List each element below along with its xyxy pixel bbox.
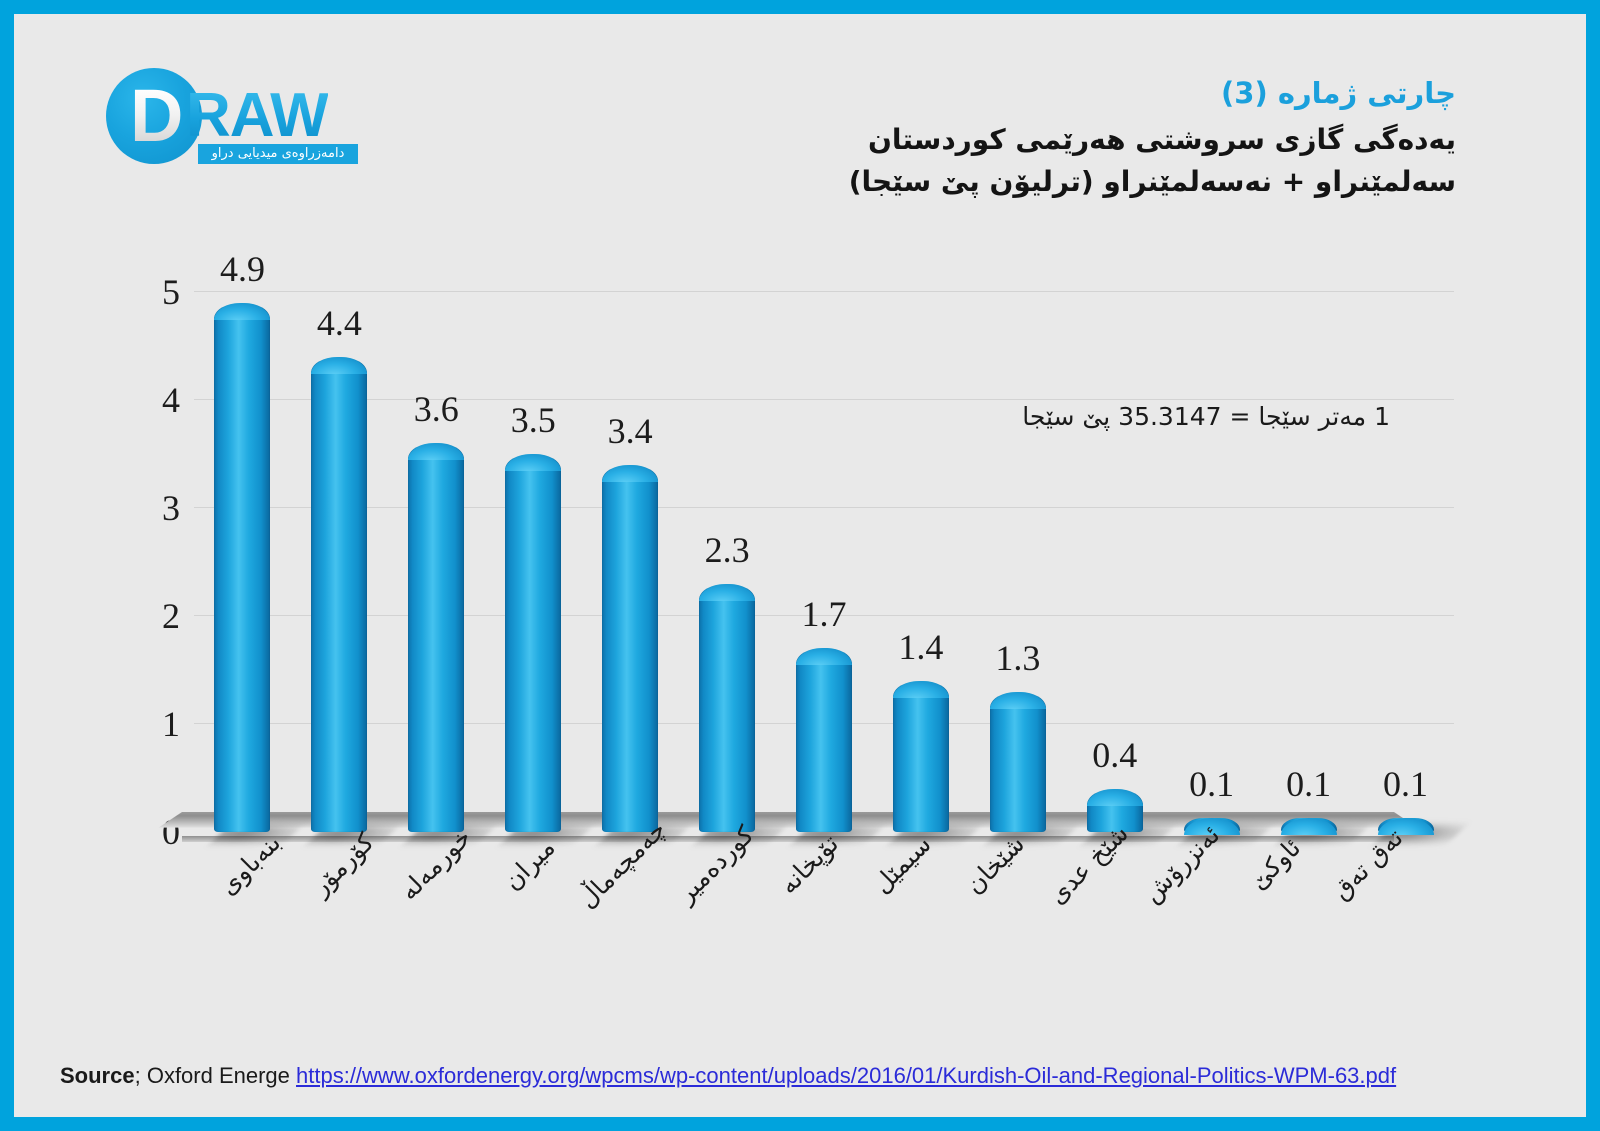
bar-value-label: 1.3: [969, 640, 1066, 676]
bar-slot: 1.7: [776, 262, 873, 842]
bar-value-label: 3.5: [485, 402, 582, 438]
bar-slot: 3.5: [485, 262, 582, 842]
source-footer: Source; Oxford Energe https://www.oxford…: [60, 1063, 1396, 1089]
bar[interactable]: [990, 692, 1046, 832]
bar[interactable]: [505, 454, 561, 832]
x-label-slot: تەق تەق: [1313, 850, 1406, 980]
bar[interactable]: [699, 584, 755, 832]
logo-wordmark: RAW: [186, 80, 328, 151]
bar-slot: 0.1: [1357, 262, 1454, 842]
x-label-slot: ئاوکێ: [1220, 850, 1313, 980]
bar-slot: 4.9: [194, 262, 291, 842]
x-label-slot: چەمچەماڵ: [567, 850, 660, 980]
bar-slot: 4.4: [291, 262, 388, 842]
bar-value-label: 3.4: [582, 413, 679, 449]
bar-value-label: 0.4: [1066, 737, 1163, 773]
bar-slot: 1.3: [969, 262, 1066, 842]
x-label-slot: شێخان: [940, 850, 1033, 980]
x-label-slot: ئەنزرۆش: [1126, 850, 1219, 980]
x-label-slot: میران: [474, 850, 567, 980]
bar-value-label: 1.7: [776, 596, 873, 632]
bar[interactable]: [796, 648, 852, 832]
source-link[interactable]: https://www.oxfordenergy.org/wpcms/wp-co…: [296, 1063, 1396, 1088]
plot-area: 012345 4.94.43.63.53.42.31.71.41.30.40.1…: [134, 262, 1454, 842]
y-axis-tick-label: 4: [134, 379, 180, 421]
bar-value-label: 4.9: [194, 251, 291, 287]
bar-value-label: 0.1: [1260, 766, 1357, 802]
bar-slot: 3.6: [388, 262, 485, 842]
bar-slot: 3.4: [582, 262, 679, 842]
title-block: چارتی ژماره (3) یەدەگی گازی سروشتی هەرێم…: [849, 76, 1456, 203]
outer-frame: D RAW دامەزراوەی میدیایی دراو چارتی ژمار…: [0, 0, 1600, 1131]
x-label-slot: بنەباوی: [194, 850, 287, 980]
bar-value-label: 4.4: [291, 305, 388, 341]
y-axis-tick-label: 2: [134, 595, 180, 637]
bar[interactable]: [311, 357, 367, 832]
logo-subtitle: دامەزراوەی میدیایی دراو: [198, 144, 358, 164]
draw-logo: D RAW دامەزراوەی میدیایی دراو: [106, 62, 356, 170]
bar-value-label: 0.1: [1163, 766, 1260, 802]
bar-slot: 2.3: [679, 262, 776, 842]
chart-title-line-1: یەدەگی گازی سروشتی هەرێمی کوردستان: [849, 119, 1456, 161]
chart-title-line-2: سەلمێنراو + نەسەلمێنراو (ترلیۆن پێ سێجا): [849, 161, 1456, 203]
x-label-slot: خورمەلە: [380, 850, 473, 980]
bar-value-label: 2.3: [679, 532, 776, 568]
bar-series: 4.94.43.63.53.42.31.71.41.30.40.10.10.1: [194, 262, 1454, 842]
bar[interactable]: [893, 681, 949, 832]
source-label: Source: [60, 1063, 135, 1088]
x-label-slot: شێخ عدی: [1033, 850, 1126, 980]
chart-number: چارتی ژماره (3): [849, 76, 1456, 110]
bar-value-label: 1.4: [872, 629, 969, 665]
bar[interactable]: [602, 465, 658, 832]
bar[interactable]: [408, 443, 464, 832]
logo-letter-d: D: [130, 88, 188, 146]
bar-slot: 0.1: [1163, 262, 1260, 842]
y-axis-tick-label: 5: [134, 271, 180, 313]
x-label-slot: کۆرمۆر: [287, 850, 380, 980]
x-label-slot: تۆپخانە: [753, 850, 846, 980]
x-axis-labels: بنەباویکۆرمۆرخورمەلەمیرانچەمچەماڵکوردەمی…: [194, 850, 1406, 980]
bar-slot: 0.4: [1066, 262, 1163, 842]
y-axis-tick-label: 1: [134, 703, 180, 745]
bar-slot: 0.1: [1260, 262, 1357, 842]
x-label-slot: کوردەمیر: [660, 850, 753, 980]
chart-canvas: D RAW دامەزراوەی میدیایی دراو چارتی ژمار…: [14, 14, 1586, 1117]
bar-value-label: 0.1: [1357, 766, 1454, 802]
bar-slot: 1.4: [872, 262, 969, 842]
y-axis-tick-label: 3: [134, 487, 180, 529]
source-publisher: Oxford Energe: [147, 1063, 296, 1088]
bar[interactable]: [1281, 818, 1337, 832]
source-separator: ;: [135, 1063, 147, 1088]
bar-value-label: 3.6: [388, 391, 485, 427]
bar[interactable]: [214, 303, 270, 832]
x-label-slot: سیمێل: [847, 850, 940, 980]
